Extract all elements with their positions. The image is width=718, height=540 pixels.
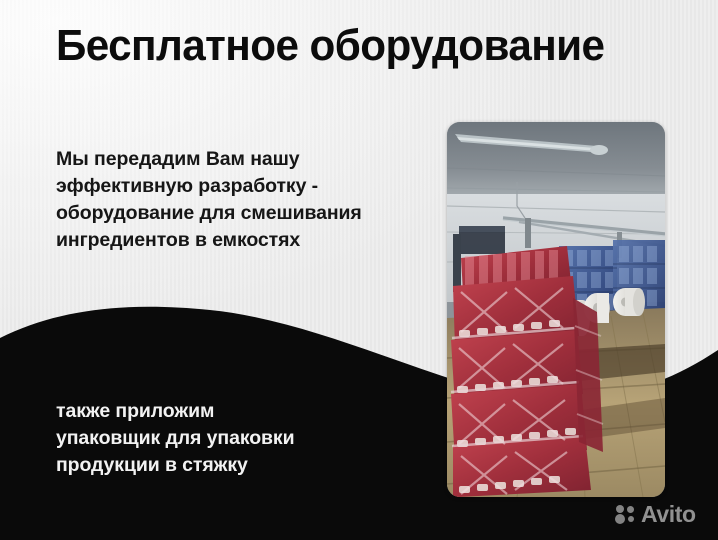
tail-line: продукции в стяжку (56, 452, 416, 479)
tail-paragraph: также приложим упаковщик для упаковки пр… (56, 398, 416, 479)
product-photo (447, 122, 665, 497)
promo-slide: Бесплатное оборудование Мы передадим Вам… (0, 0, 718, 540)
page-title: Бесплатное оборудование (56, 22, 661, 70)
lead-line: эффективную разработку - (56, 173, 416, 200)
lead-line: оборудование для смешивания (56, 200, 416, 227)
avito-dots-icon (615, 505, 636, 525)
tail-line: также приложим (56, 398, 416, 425)
avito-wordmark: Avito (641, 503, 696, 526)
lead-line: Мы передадим Вам нашу (56, 146, 416, 173)
avito-watermark: Avito (615, 503, 696, 526)
lead-line: ингредиентов в емкостях (56, 227, 416, 254)
tail-line: упаковщик для упаковки (56, 425, 416, 452)
lead-paragraph: Мы передадим Вам нашу эффективную разраб… (56, 146, 416, 254)
